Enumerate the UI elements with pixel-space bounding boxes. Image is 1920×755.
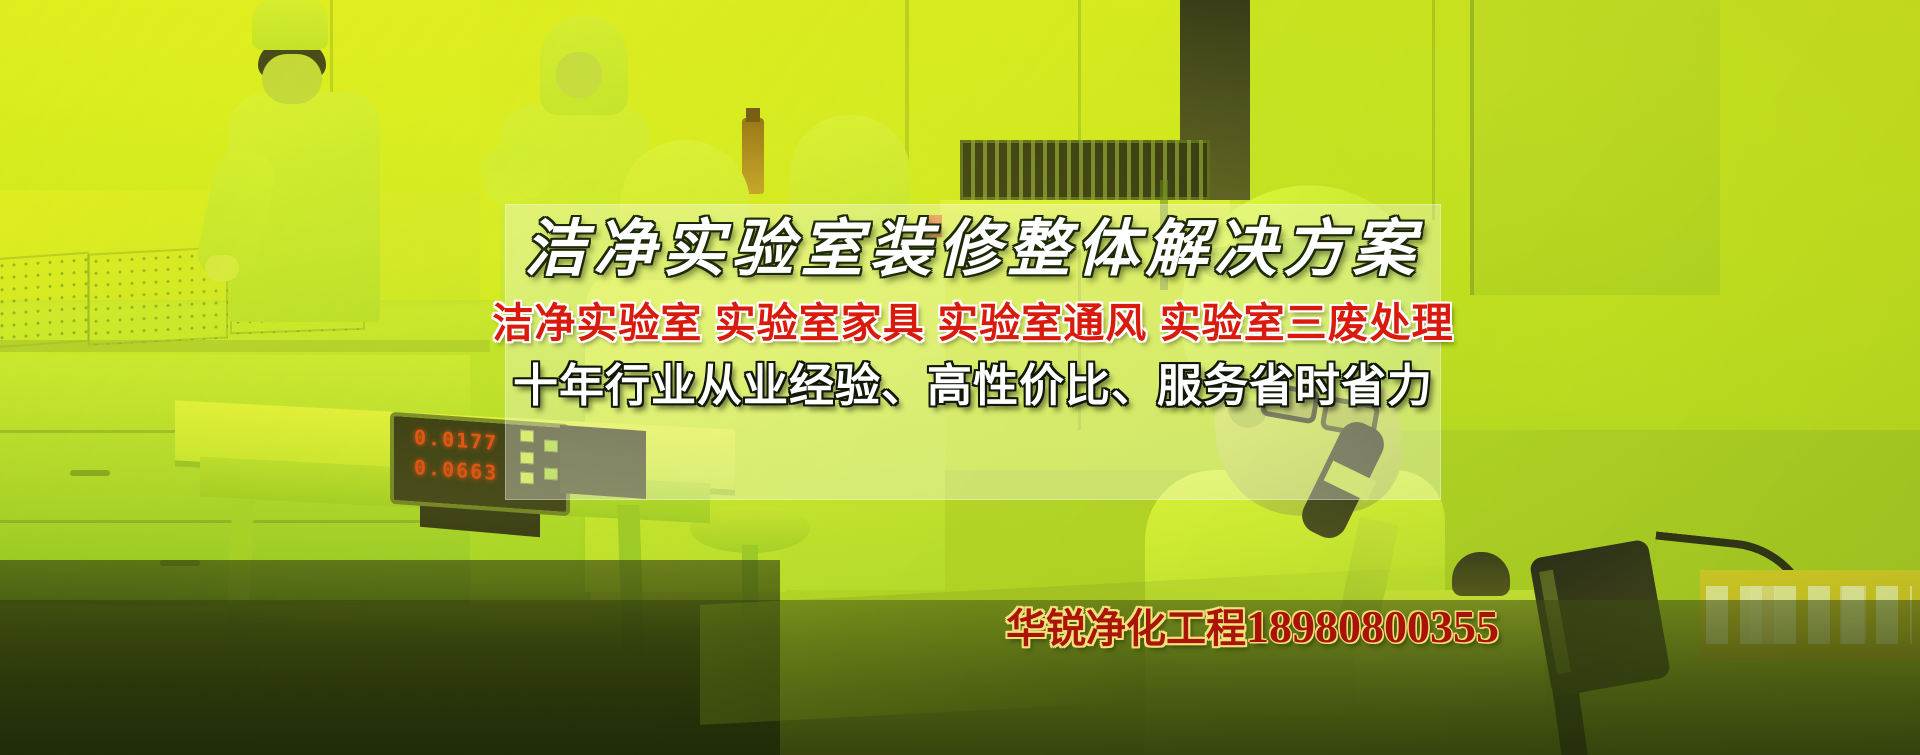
marketing-banner: 0.0177 0.0663 bbox=[0, 0, 1920, 755]
tall-cabinet bbox=[1470, 0, 1720, 295]
floor-shadow-left bbox=[0, 560, 780, 755]
contact-line: 华锐净化工程 18980800355 bbox=[1006, 596, 1499, 654]
cabinet-seam bbox=[0, 520, 430, 523]
technician-left-head bbox=[262, 54, 322, 104]
microscope-focus-knob bbox=[1452, 552, 1510, 596]
wall-seam bbox=[1432, 0, 1435, 220]
banner-services-line: 洁净实验室 实验室家具 实验室通风 实验室三废处理 bbox=[492, 301, 1453, 347]
company-name: 华锐净化工程 bbox=[1006, 596, 1246, 654]
bench-edge bbox=[0, 340, 490, 352]
banner-headline: 洁净实验室装修整体解决方案 bbox=[524, 218, 1421, 283]
cabinet-handle bbox=[70, 470, 110, 476]
technician-center-face bbox=[556, 52, 602, 98]
instrument-rack bbox=[960, 140, 1210, 200]
banner-text-block: 洁净实验室装修整体解决方案 洁净实验室 实验室家具 实验室通风 实验室三废处理 … bbox=[505, 204, 1441, 500]
reagent-bottle-cap bbox=[746, 108, 760, 122]
banner-tagline: 十年行业从业经验、高性价比、服务省时省力 bbox=[513, 361, 1433, 411]
technician-left-cap bbox=[252, 0, 328, 50]
phone-number: 18980800355 bbox=[1246, 600, 1499, 653]
technician-left-hand bbox=[205, 255, 239, 281]
vent-grille bbox=[0, 252, 89, 349]
